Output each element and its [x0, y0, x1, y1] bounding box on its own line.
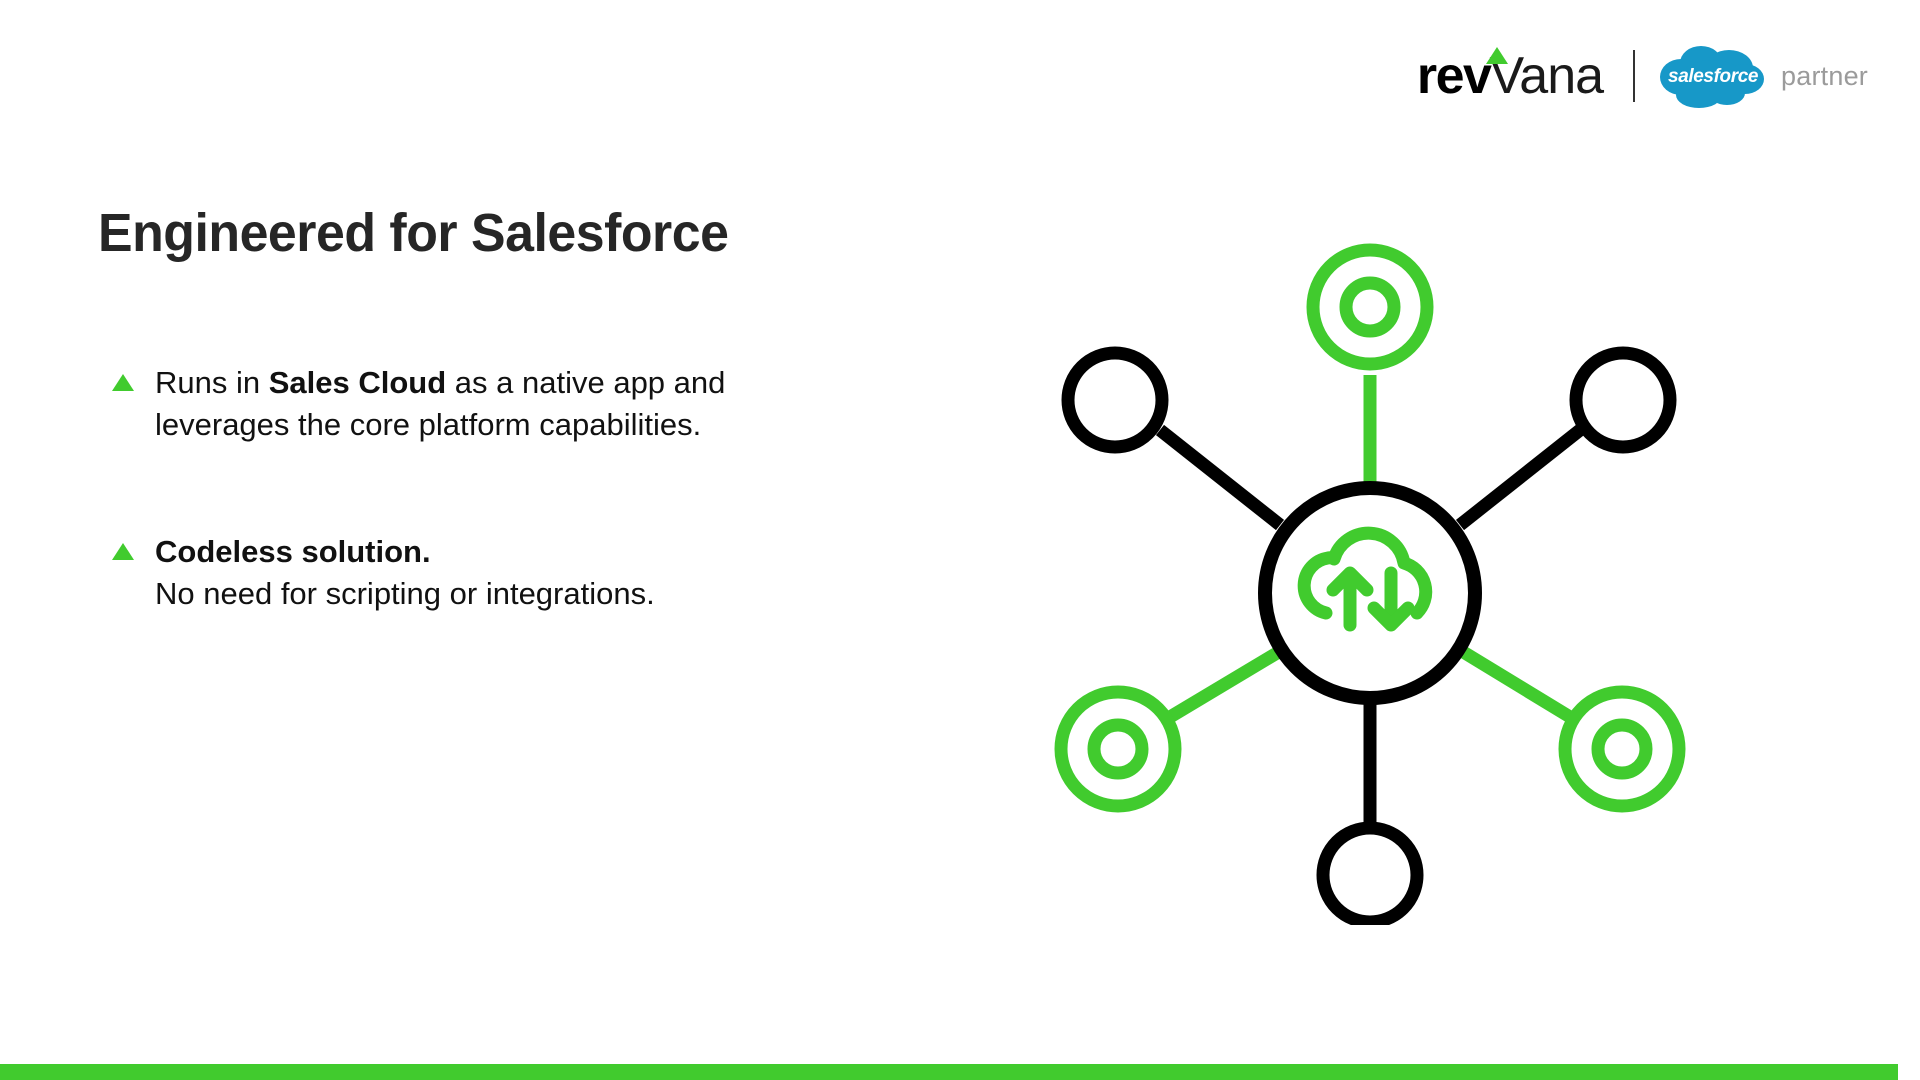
bullet-2-subtext: No need for scripting or integrations.	[155, 573, 655, 615]
connector-lower-left	[1165, 650, 1282, 720]
bullet-text-2: Codeless solution. No need for scripting…	[155, 531, 655, 616]
connector-lower-right	[1460, 650, 1575, 720]
bullet-text-1: Runs in Sales Cloud as a native app and …	[155, 362, 795, 447]
brand-header: rev Vana salesforce partner	[1417, 44, 1868, 108]
node-lower-right	[1565, 692, 1679, 806]
list-item: Codeless solution. No need for scripting…	[112, 531, 812, 616]
revvana-logo-bold-part: rev	[1417, 50, 1491, 102]
bullet-1-lead: Runs in	[155, 365, 269, 400]
salesforce-partner-lockup: salesforce partner	[1657, 43, 1868, 109]
salesforce-cloud-icon: salesforce	[1657, 43, 1769, 109]
node-top	[1313, 250, 1427, 364]
footer-accent-bar	[0, 1064, 1898, 1080]
bullet-1-emphasis: Sales Cloud	[269, 365, 446, 400]
connector-upper-left	[1160, 430, 1280, 525]
node-bottom	[1323, 828, 1417, 922]
green-triangle-bullet-icon	[112, 543, 134, 560]
bullet-list: Runs in Sales Cloud as a native app and …	[112, 362, 812, 616]
revvana-logo: rev Vana	[1417, 50, 1607, 102]
green-triangle-bullet-icon	[112, 374, 134, 391]
page-title: Engineered for Salesforce	[98, 205, 728, 262]
green-triangle-icon	[1486, 47, 1508, 64]
hub-and-spoke-cloud-integration-diagram	[1030, 225, 1710, 925]
connector-upper-right	[1460, 430, 1580, 525]
node-lower-left	[1061, 692, 1175, 806]
node-upper-left	[1068, 353, 1162, 447]
salesforce-wordmark: salesforce	[1657, 43, 1769, 109]
node-upper-right	[1576, 353, 1670, 447]
salesforce-partner-label: partner	[1781, 61, 1868, 92]
bullet-2-emphasis: Codeless solution.	[155, 534, 431, 569]
brand-divider	[1633, 50, 1635, 102]
list-item: Runs in Sales Cloud as a native app and …	[112, 362, 812, 447]
